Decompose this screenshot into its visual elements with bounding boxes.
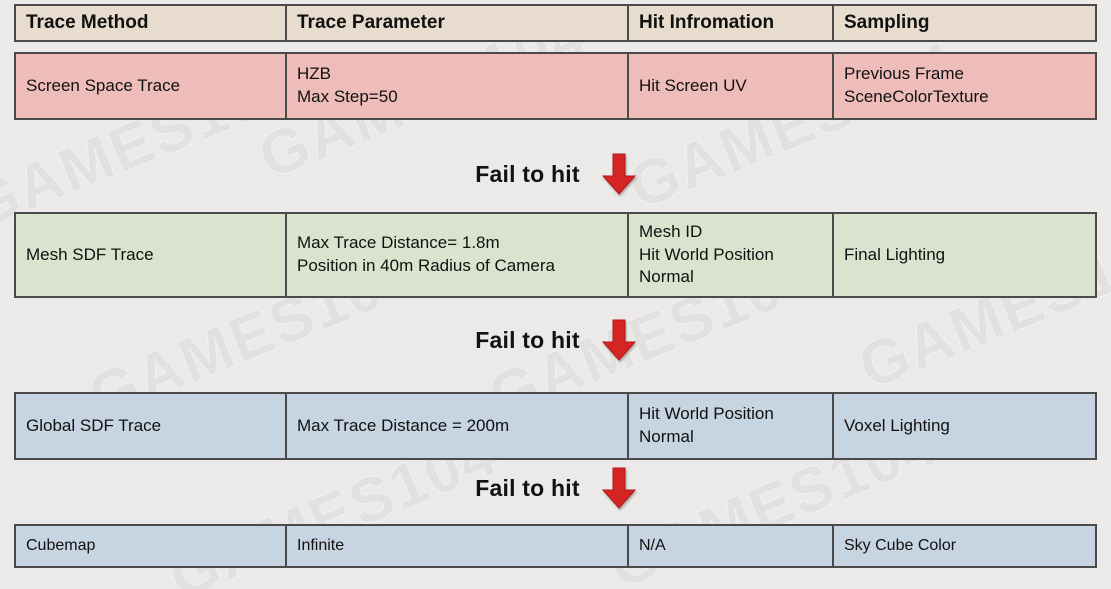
column-header-trace-method: Trace Method <box>16 6 287 40</box>
table-row-cubemap: Cubemap Infinite N/A Sky Cube Color <box>14 524 1097 568</box>
cell-line: Max Trace Distance= 1.8m <box>297 232 617 255</box>
cell-line: Hit World Position <box>639 403 822 426</box>
connector-fail-to-hit-2: Fail to hit <box>0 318 1111 362</box>
cell-line: Final Lighting <box>844 244 1085 267</box>
cell-line: Position in 40m Radius of Camera <box>297 255 617 278</box>
cell-line: Hit World Position <box>639 244 822 267</box>
cell-trace-parameter: Infinite <box>287 526 629 566</box>
cell-line: Voxel Lighting <box>844 415 1085 438</box>
table-row-global-sdf-trace: Global SDF Trace Max Trace Distance = 20… <box>14 392 1097 460</box>
cell-line: Max Step=50 <box>297 86 617 109</box>
cell-line: HZB <box>297 63 617 86</box>
cell-line: Hit Screen UV <box>639 75 822 98</box>
cell-trace-method: Screen Space Trace <box>16 54 287 118</box>
cell-line: Previous Frame <box>844 63 1085 86</box>
cell-line: Mesh ID <box>639 221 822 244</box>
connector-fail-to-hit-1: Fail to hit <box>0 152 1111 196</box>
cell-trace-method: Mesh SDF Trace <box>16 214 287 296</box>
cell-sampling: Voxel Lighting <box>834 394 1095 458</box>
connector-fail-to-hit-3: Fail to hit <box>0 466 1111 510</box>
cell-line: Max Trace Distance = 200m <box>297 415 617 438</box>
cell-line: Mesh SDF Trace <box>26 244 275 267</box>
column-header-sampling: Sampling <box>834 6 1095 40</box>
cell-hit-information: N/A <box>629 526 834 566</box>
cell-trace-method: Cubemap <box>16 526 287 566</box>
cell-trace-method: Global SDF Trace <box>16 394 287 458</box>
cell-trace-parameter: Max Trace Distance = 200m <box>287 394 629 458</box>
table-row-mesh-sdf-trace: Mesh SDF Trace Max Trace Distance= 1.8m … <box>14 212 1097 298</box>
cell-line: Global SDF Trace <box>26 415 275 438</box>
connector-label: Fail to hit <box>475 161 579 188</box>
cell-line: Normal <box>639 266 822 289</box>
cell-hit-information: Hit World Position Normal <box>629 394 834 458</box>
column-header-hit-information: Hit Infromation <box>629 6 834 40</box>
cell-line: Cubemap <box>26 535 275 556</box>
cell-line: Sky Cube Color <box>844 535 1085 556</box>
arrow-down-icon <box>602 319 636 361</box>
cell-trace-parameter: Max Trace Distance= 1.8m Position in 40m… <box>287 214 629 296</box>
cell-trace-parameter: HZB Max Step=50 <box>287 54 629 118</box>
cell-sampling: Previous Frame SceneColorTexture <box>834 54 1095 118</box>
connector-label: Fail to hit <box>475 327 579 354</box>
cell-line: N/A <box>639 535 822 556</box>
cell-line: Normal <box>639 426 822 449</box>
cell-line: Infinite <box>297 535 617 556</box>
cell-sampling: Sky Cube Color <box>834 526 1095 566</box>
cell-line: Screen Space Trace <box>26 75 275 98</box>
cell-sampling: Final Lighting <box>834 214 1095 296</box>
cell-hit-information: Mesh ID Hit World Position Normal <box>629 214 834 296</box>
cell-line: SceneColorTexture <box>844 86 1085 109</box>
arrow-down-icon <box>602 467 636 509</box>
cell-hit-information: Hit Screen UV <box>629 54 834 118</box>
diagram-canvas: Trace Method Trace Parameter Hit Infroma… <box>0 0 1111 589</box>
column-header-trace-parameter: Trace Parameter <box>287 6 629 40</box>
connector-label: Fail to hit <box>475 475 579 502</box>
arrow-down-icon <box>602 153 636 195</box>
table-header-row: Trace Method Trace Parameter Hit Infroma… <box>14 4 1097 42</box>
table-row-screen-space-trace: Screen Space Trace HZB Max Step=50 Hit S… <box>14 52 1097 120</box>
